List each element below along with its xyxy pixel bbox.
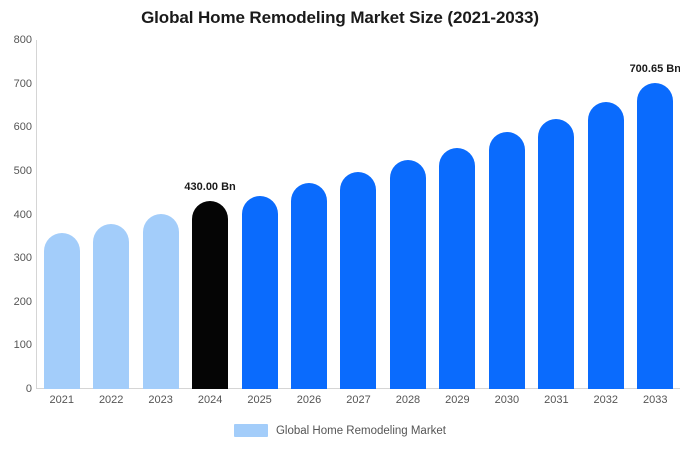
bar-2028[interactable] — [390, 160, 426, 389]
bar-2031[interactable] — [538, 119, 574, 389]
x-axis-tick-2027: 2027 — [334, 394, 383, 406]
bar-slot-2021 — [37, 40, 86, 389]
bar-2025[interactable] — [242, 196, 278, 389]
bar-2023[interactable] — [143, 214, 179, 389]
chart-title: Global Home Remodeling Market Size (2021… — [0, 8, 680, 28]
chart-container: Global Home Remodeling Market Size (2021… — [0, 0, 680, 450]
x-axis-tick-2029: 2029 — [433, 394, 482, 406]
bar-slot-2027 — [334, 40, 383, 389]
legend-swatch-icon — [234, 424, 268, 437]
x-axis-tick-2030: 2030 — [482, 394, 531, 406]
chart-legend: Global Home Remodeling Market — [0, 424, 680, 437]
bar-2026[interactable] — [291, 183, 327, 389]
bar-2033[interactable] — [637, 83, 673, 389]
bar-slot-2029 — [433, 40, 482, 389]
bar-slot-2032 — [581, 40, 630, 389]
plot-area: 0100200300400500600700800 430.00 Bn700.6… — [36, 40, 680, 389]
x-axis-tick-2022: 2022 — [86, 394, 135, 406]
x-axis-tick-2033: 2033 — [631, 394, 680, 406]
y-axis-tick-100: 100 — [0, 339, 32, 351]
x-axis-tick-2023: 2023 — [136, 394, 185, 406]
bar-slot-2028 — [383, 40, 432, 389]
x-axis-tick-2021: 2021 — [37, 394, 86, 406]
bar-slot-2025 — [235, 40, 284, 389]
legend-label: Global Home Remodeling Market — [276, 425, 446, 437]
bar-slot-2023 — [136, 40, 185, 389]
bar-2022[interactable] — [93, 224, 129, 389]
bar-2029[interactable] — [439, 148, 475, 389]
bar-group: 430.00 Bn700.65 Bn — [37, 40, 680, 389]
y-axis-tick-700: 700 — [0, 78, 32, 90]
x-axis-tick-2025: 2025 — [235, 394, 284, 406]
bar-2030[interactable] — [489, 132, 525, 389]
bar-slot-2026 — [284, 40, 333, 389]
bar-value-label-2024: 430.00 Bn — [184, 181, 235, 193]
bar-slot-2033: 700.65 Bn — [631, 40, 680, 389]
y-axis-tick-500: 500 — [0, 165, 32, 177]
x-axis-tick-2024: 2024 — [185, 394, 234, 406]
x-axis-tick-2031: 2031 — [532, 394, 581, 406]
bar-slot-2024: 430.00 Bn — [185, 40, 234, 389]
y-axis-tick-600: 600 — [0, 121, 32, 133]
bar-2024[interactable] — [192, 201, 228, 389]
y-axis-tick-200: 200 — [0, 296, 32, 308]
x-axis-tick-2028: 2028 — [383, 394, 432, 406]
y-axis-tick-800: 800 — [0, 34, 32, 46]
bar-slot-2030 — [482, 40, 531, 389]
y-axis-tick-0: 0 — [0, 383, 32, 395]
bar-2032[interactable] — [588, 102, 624, 389]
y-axis-tick-300: 300 — [0, 252, 32, 264]
bar-slot-2022 — [86, 40, 135, 389]
x-axis-tick-2026: 2026 — [284, 394, 333, 406]
bar-2021[interactable] — [44, 233, 80, 389]
x-axis-tick-2032: 2032 — [581, 394, 630, 406]
bar-2027[interactable] — [340, 172, 376, 389]
bar-slot-2031 — [532, 40, 581, 389]
y-axis-tick-400: 400 — [0, 209, 32, 221]
bar-value-label-2033: 700.65 Bn — [630, 63, 680, 75]
